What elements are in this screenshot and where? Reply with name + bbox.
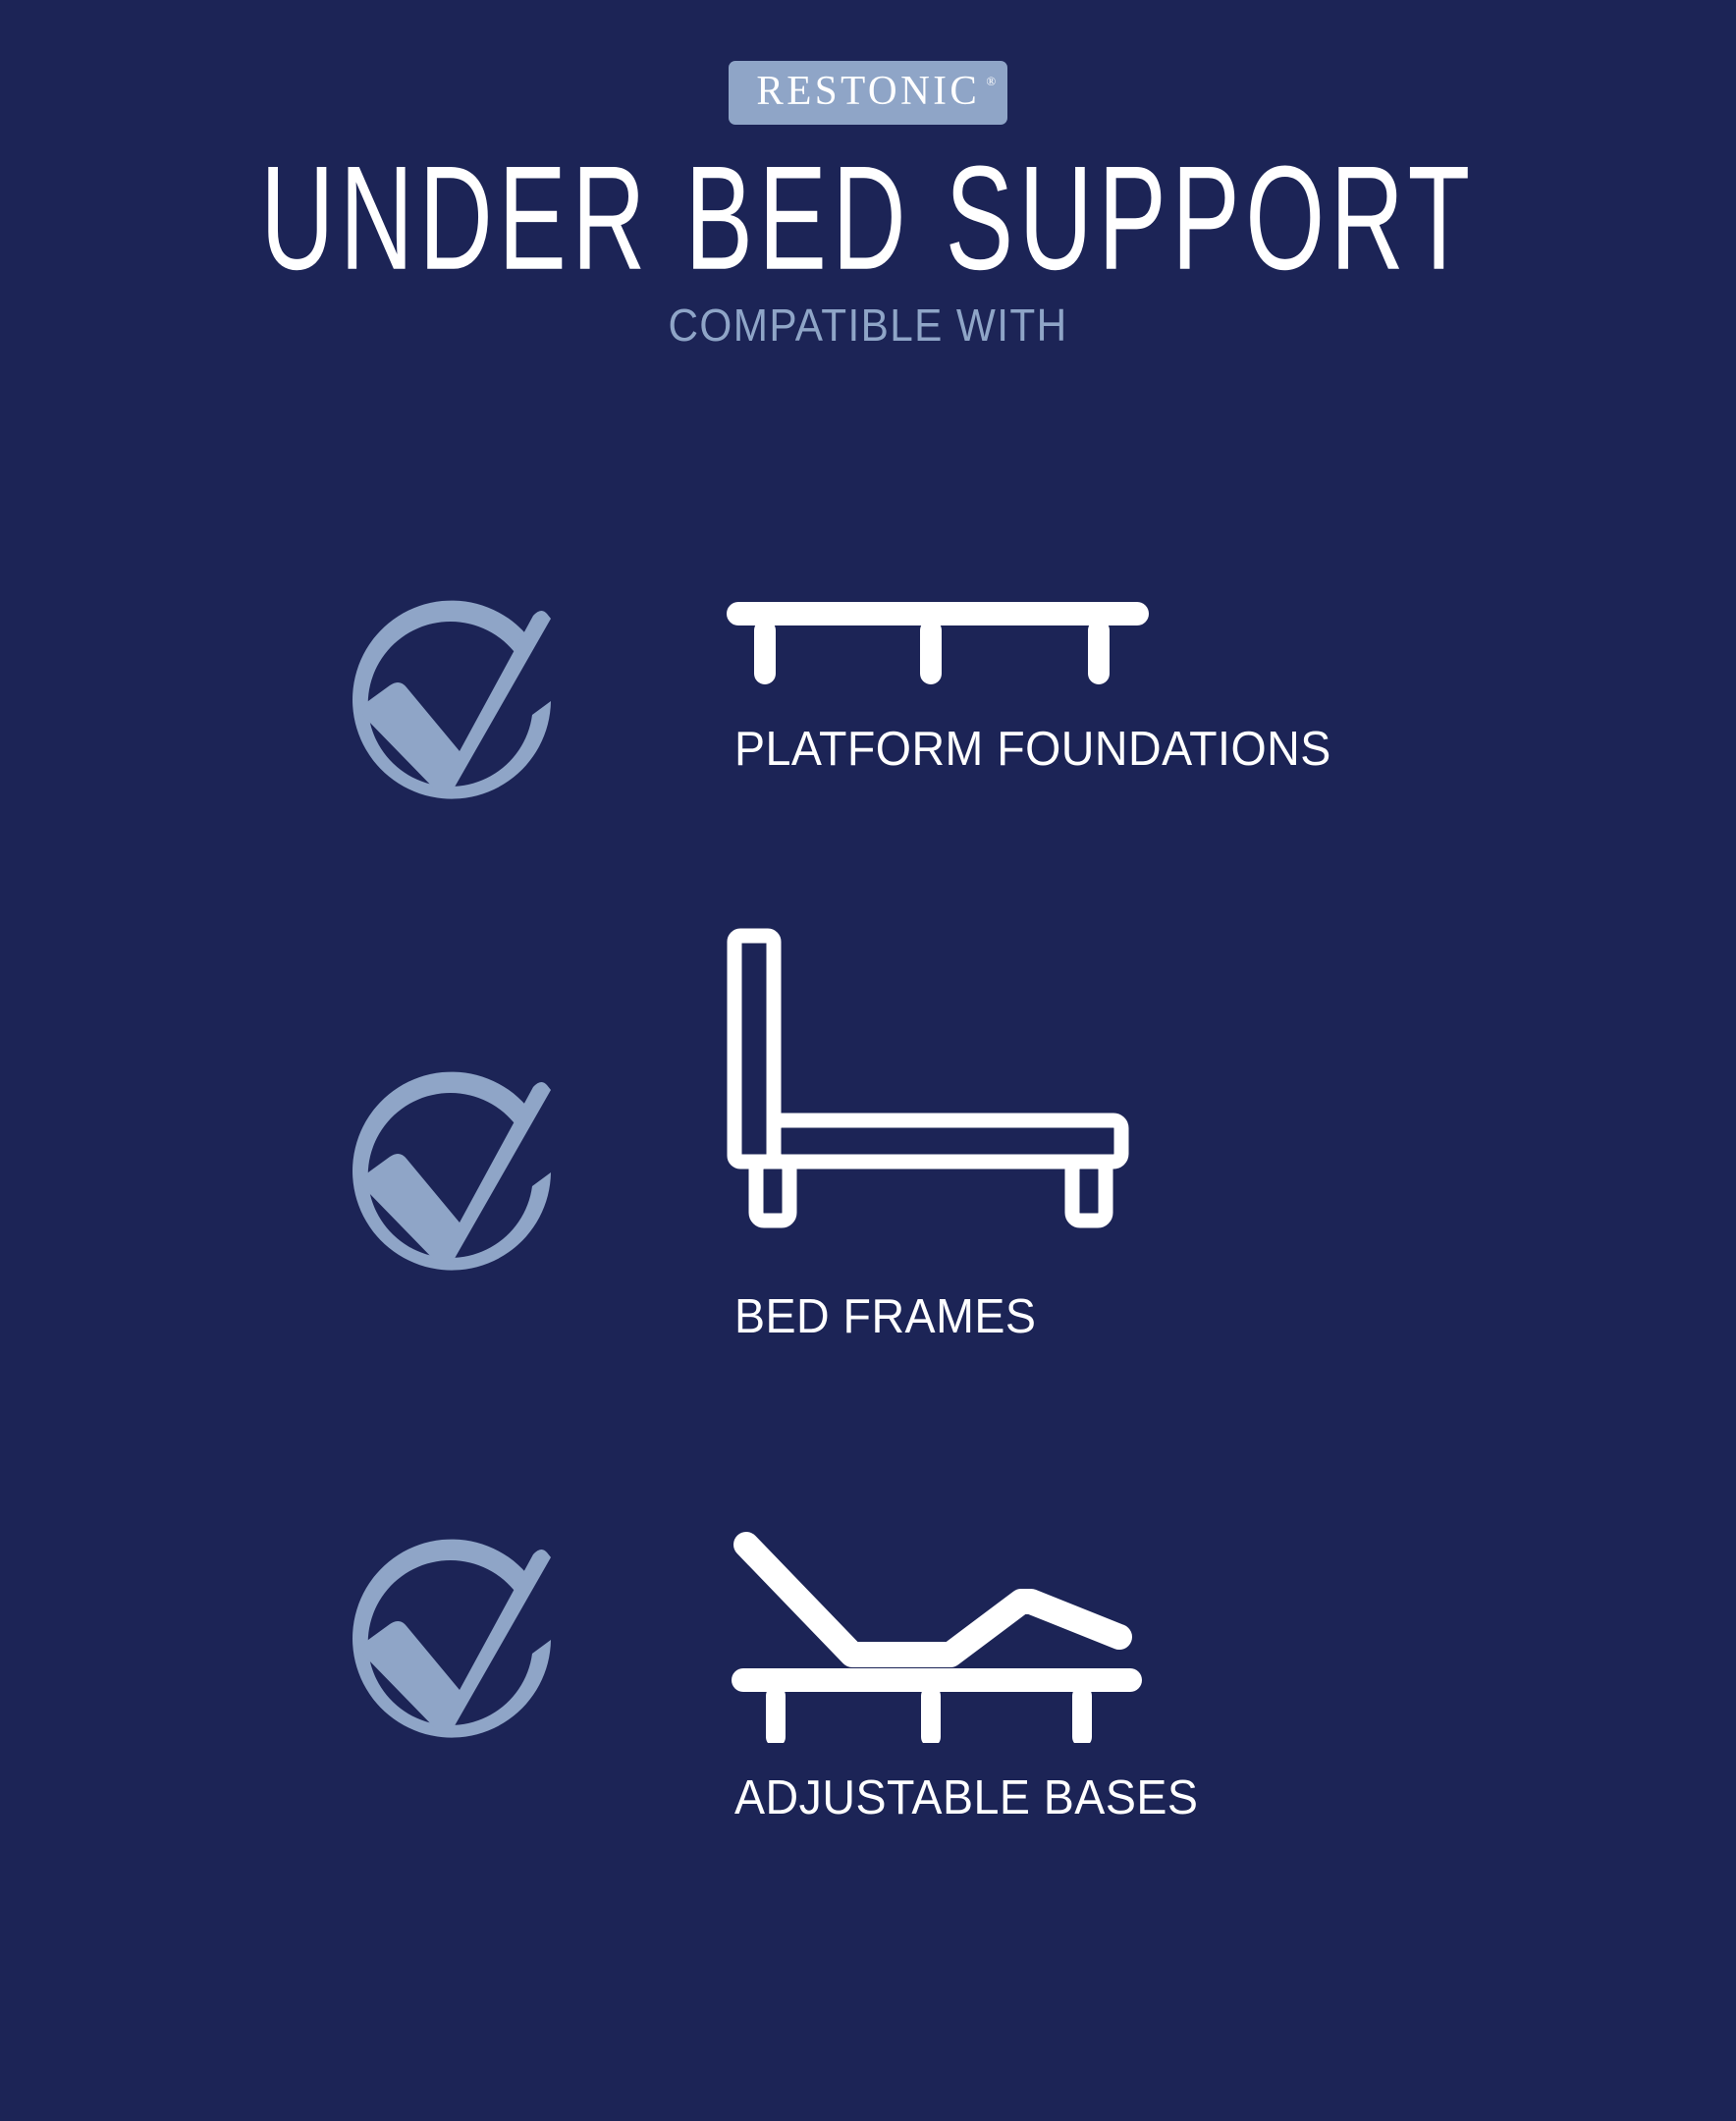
check-circle-icon (324, 1527, 579, 1782)
list-item-label: BED FRAMES (734, 1289, 1036, 1344)
compatibility-list: PLATFORM FOUNDATIONS BED FRAMES (0, 574, 1736, 1959)
header: RESTONIC ® UNDER BED SUPPORT COMPATIBLE … (0, 0, 1736, 352)
bed-frame-icon (727, 928, 1129, 1183)
check-circle-icon (324, 588, 579, 843)
page-subtitle: COMPATIBLE WITH (70, 299, 1667, 352)
list-item: ADJUSTABLE BASES (0, 1497, 1736, 1959)
list-item-label: PLATFORM FOUNDATIONS (734, 722, 1331, 777)
restonic-logo-text: RESTONIC (756, 71, 980, 112)
list-item-label: ADJUSTABLE BASES (734, 1770, 1198, 1825)
page-title: UNDER BED SUPPORT (174, 142, 1562, 294)
restonic-logo-badge: RESTONIC ® (729, 61, 1008, 125)
adjustable-base-icon (727, 1507, 1149, 1763)
check-circle-icon (324, 1060, 579, 1315)
trademark-icon: ® (986, 75, 996, 87)
list-item: BED FRAMES (0, 1036, 1736, 1497)
